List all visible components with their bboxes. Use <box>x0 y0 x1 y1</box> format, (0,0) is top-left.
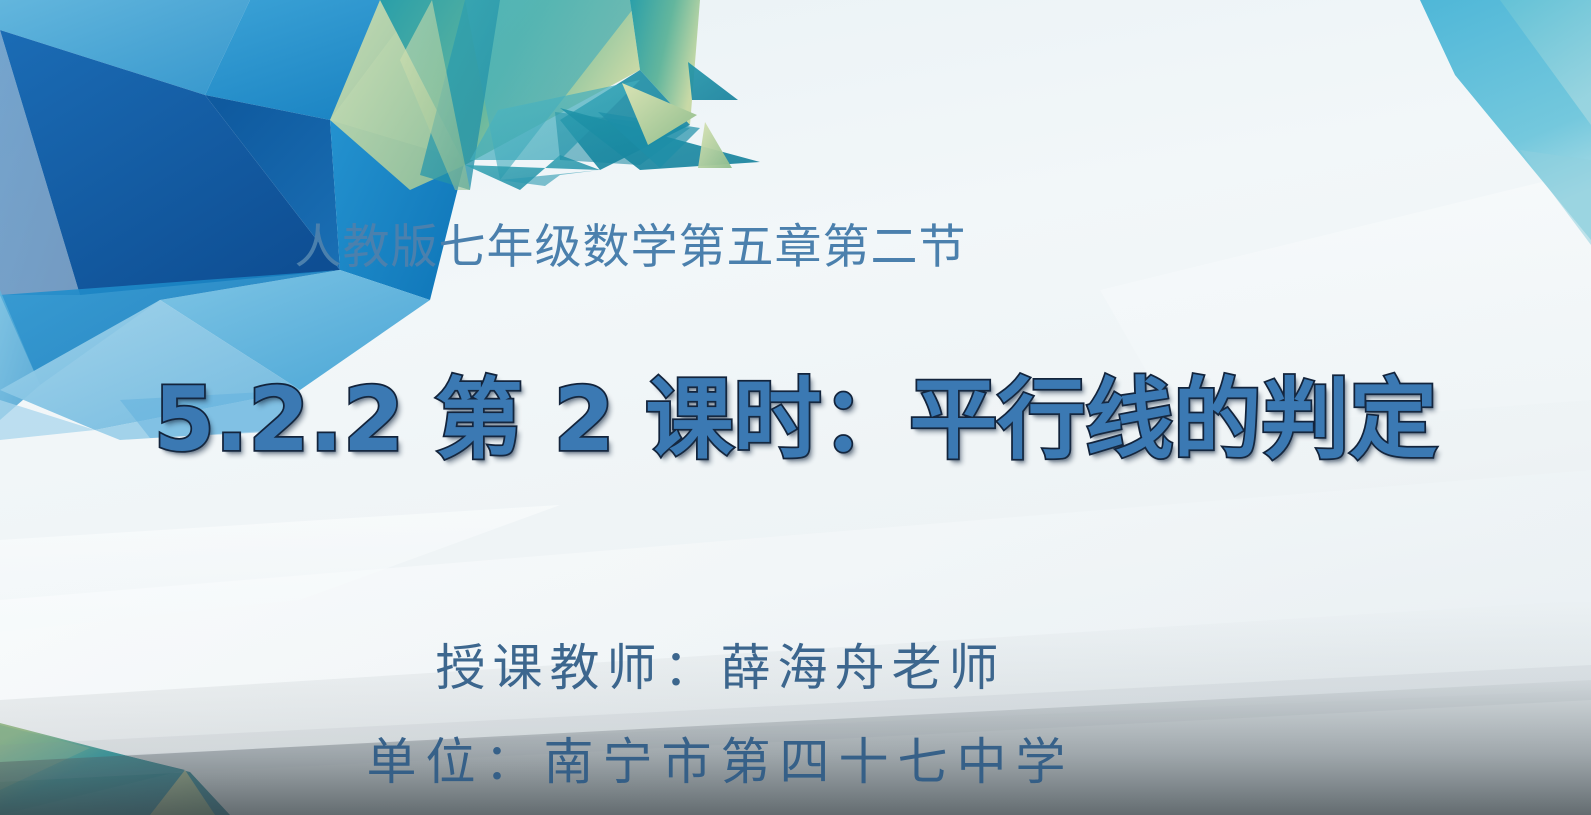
slide-text-layer: 人教版七年级数学第五章第二节 5.2.2 第 2 课时：平行线的判定 授课教师：… <box>0 0 1591 815</box>
school-line: 单位：南宁市第四十七中学 <box>0 722 1591 794</box>
title-slide: 人教版七年级数学第五章第二节 5.2.2 第 2 课时：平行线的判定 授课教师：… <box>0 0 1591 815</box>
teacher-line: 授课教师：薛海舟老师 <box>0 628 1591 700</box>
course-subtitle: 人教版七年级数学第五章第二节 <box>0 222 1591 274</box>
page-title: 5.2.2 第 2 课时：平行线的判定 <box>0 372 1591 467</box>
